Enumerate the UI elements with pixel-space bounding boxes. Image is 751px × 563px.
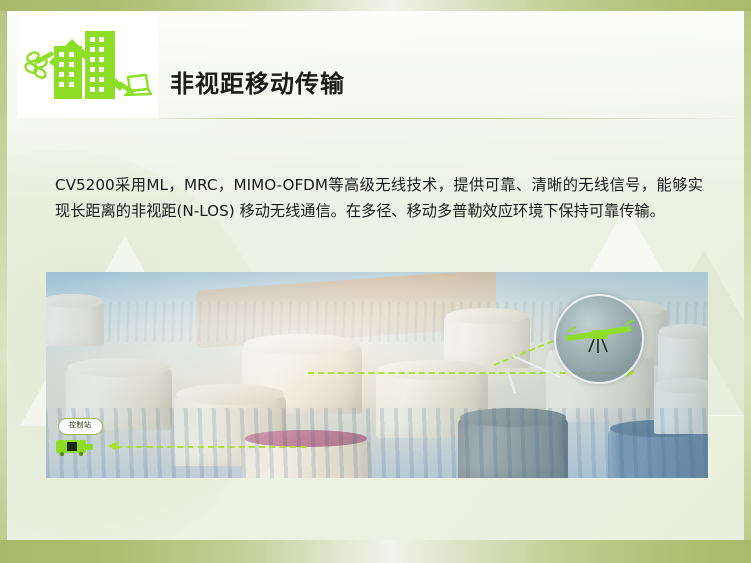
page-title: 非视距移动传输 [170,64,345,99]
site-label-badge: 控制站 [58,418,103,435]
tank-farm-photo: 控制站 [46,272,708,478]
uav-magnifier-callout [554,294,644,384]
header-icon-box [17,13,158,118]
signal-arrow-left [108,441,117,451]
signal-link-ground [116,446,306,448]
uav-drone-icon [556,296,642,382]
buildings-antenna-laptop-icon [17,13,158,118]
right-edge-strip [744,11,751,540]
left-edge-strip [0,11,7,540]
bottom-green-band [0,540,751,563]
body-paragraph: CV5200采用ML，MRC，MIMO-OFDM等高级无线技术，提供可靠、清晰的… [55,172,703,224]
title-divider [158,118,735,119]
control-station-icon [54,436,98,456]
slide-canvas: 非视距移动传输 CV5200采用ML，MRC，MIMO-OFDM等高级无线技术，… [0,0,751,563]
top-green-band [0,0,751,11]
